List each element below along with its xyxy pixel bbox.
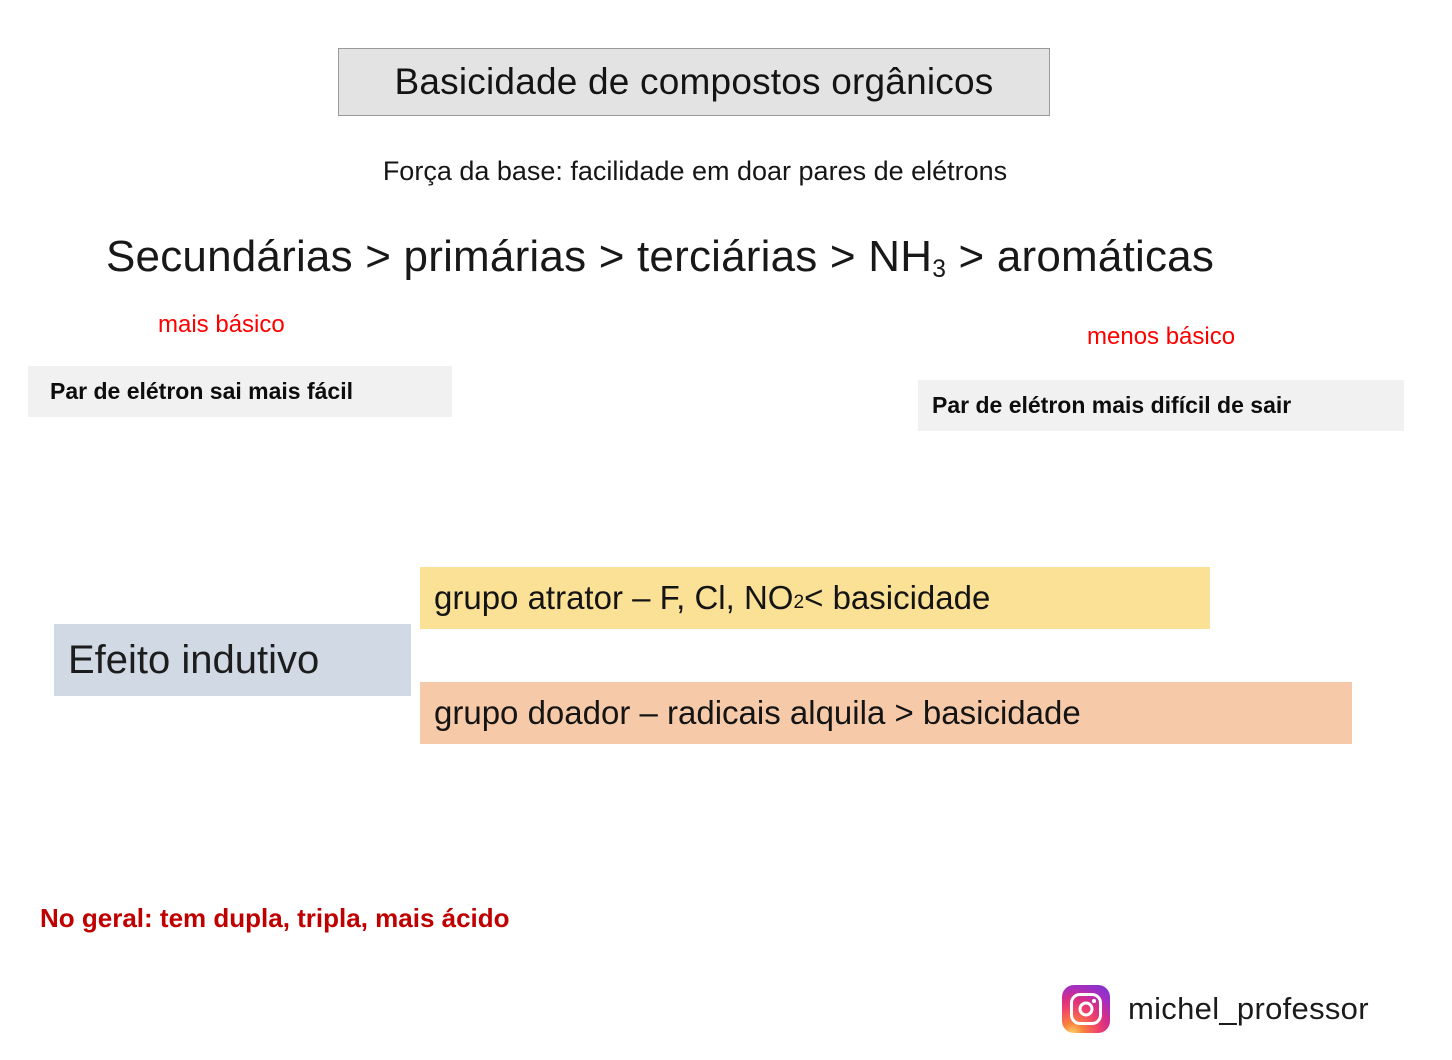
inductive-effect-label-text: Efeito indutivo — [68, 638, 319, 683]
note-par-eletron-facil: Par de elétron sai mais fácil — [28, 366, 452, 417]
note-par-eletron-dificil: Par de elétron mais difícil de sair — [918, 380, 1404, 431]
label-menos-basico: menos básico — [1087, 323, 1235, 351]
label-mais-basico: mais básico — [158, 311, 285, 339]
instagram-icon-lens — [1079, 1002, 1094, 1017]
donor-row-text: grupo doador – radicais alquila > basici… — [434, 694, 1081, 732]
slide-title-text: Basicidade de compostos orgânicos — [395, 61, 994, 103]
attractor-suffix: < basicidade — [804, 579, 990, 617]
bottom-summary-note: No geral: tem dupla, tripla, mais ácido — [40, 903, 510, 934]
instagram-icon-dot — [1092, 999, 1096, 1003]
inductive-attractor-row: grupo atrator – F, Cl, NO2 < basicidade — [420, 567, 1210, 629]
ordering-suffix: > aromáticas — [946, 232, 1214, 281]
instagram-icon — [1062, 985, 1110, 1033]
slide-title-box: Basicidade de compostos orgânicos — [338, 48, 1050, 116]
ordering-subscript: 3 — [932, 256, 946, 283]
watermark: michel_professor — [1062, 985, 1369, 1033]
instagram-icon-frame — [1070, 993, 1102, 1025]
note-par-eletron-facil-text: Par de elétron sai mais fácil — [50, 378, 353, 405]
slide-canvas: Basicidade de compostos orgânicos Força … — [0, 0, 1452, 1060]
ordering-prefix: Secundárias > primárias > terciárias > N… — [106, 232, 932, 281]
attractor-prefix: grupo atrator – F, Cl, NO — [434, 579, 793, 617]
inductive-effect-label: Efeito indutivo — [54, 624, 411, 696]
basicity-ordering-line: Secundárias > primárias > terciárias > N… — [106, 232, 1214, 282]
note-par-eletron-dificil-text: Par de elétron mais difícil de sair — [932, 392, 1291, 419]
slide-subtitle: Força da base: facilidade em doar pares … — [0, 156, 1390, 187]
watermark-handle: michel_professor — [1128, 991, 1369, 1027]
inductive-donor-row: grupo doador – radicais alquila > basici… — [420, 682, 1352, 744]
